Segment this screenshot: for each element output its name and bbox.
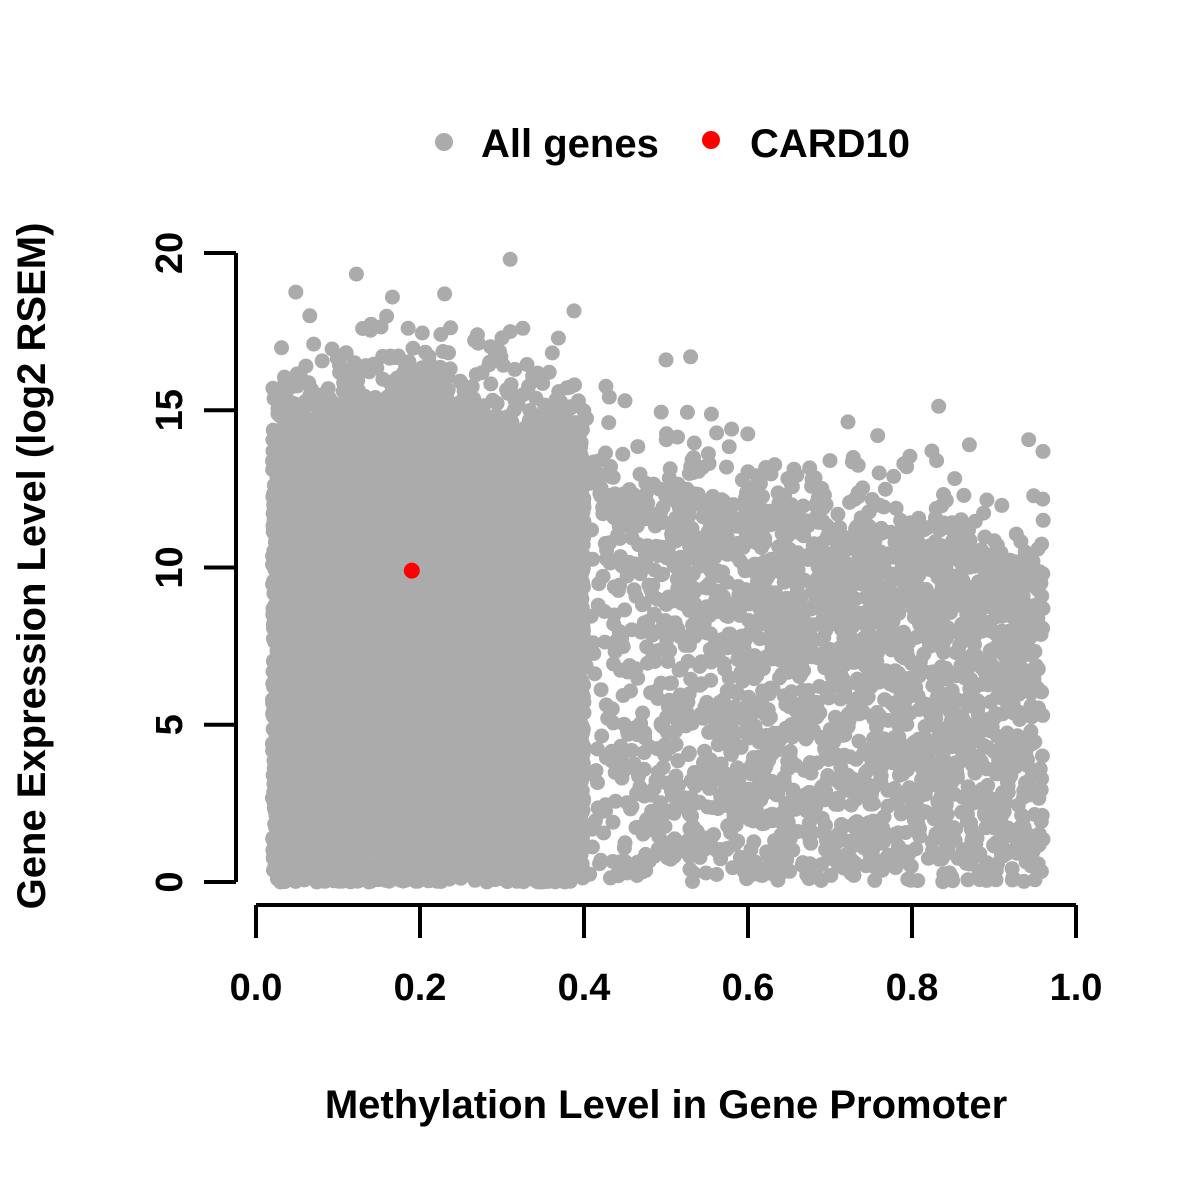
legend-marker-card10: [702, 131, 720, 149]
data-point-outlier: [618, 393, 633, 408]
x-tick-label: 0.4: [558, 967, 611, 1009]
scatter-plot-figure: 05101520 0.00.20.40.60.81.0 Methylation …: [0, 0, 1200, 1200]
x-tick-label: 0.6: [722, 967, 775, 1009]
legend-label-all-genes: All genes: [481, 122, 659, 166]
highlight-points-layer: [404, 563, 420, 579]
data-point-outlier: [339, 346, 354, 361]
data-point-outlier: [823, 453, 838, 468]
x-tick-label: 0.2: [394, 967, 447, 1009]
plot-canvas: 05101520 0.00.20.40.60.81.0 Methylation …: [0, 0, 1200, 1200]
data-point-outlier: [962, 437, 977, 452]
data-point-outlier: [355, 321, 370, 336]
data-point-outlier: [1036, 513, 1051, 528]
data-point-outlier: [495, 330, 510, 345]
data-point-outlier: [896, 456, 911, 471]
y-tick-label: 5: [149, 714, 191, 735]
data-point-outlier: [724, 422, 739, 437]
data-point-outlier: [470, 327, 485, 342]
data-point-outlier: [683, 349, 698, 364]
x-tick-label: 0.0: [230, 967, 283, 1009]
data-point-outlier: [437, 286, 452, 301]
legend-marker-all-genes: [435, 133, 453, 151]
y-tick-label: 20: [149, 232, 191, 274]
highlighted-point-card10[interactable]: [404, 563, 420, 579]
x-axis-title: Methylation Level in Gene Promoter: [325, 1083, 1007, 1127]
legend-label-card10: CARD10: [750, 122, 910, 166]
data-point-outlier: [659, 352, 674, 367]
x-tick-label: 0.8: [886, 967, 939, 1009]
data-point-outlier: [1028, 837, 1043, 852]
y-tick-label: 0: [149, 871, 191, 892]
data-point-outlier: [503, 252, 518, 267]
data-point-outlier: [929, 453, 944, 468]
y-tick-label: 10: [149, 546, 191, 588]
x-tick-label: 1.0: [1050, 967, 1103, 1009]
y-axis-title: Gene Expression Level (log2 RSEM): [10, 223, 54, 910]
y-tick-label: 15: [149, 389, 191, 431]
